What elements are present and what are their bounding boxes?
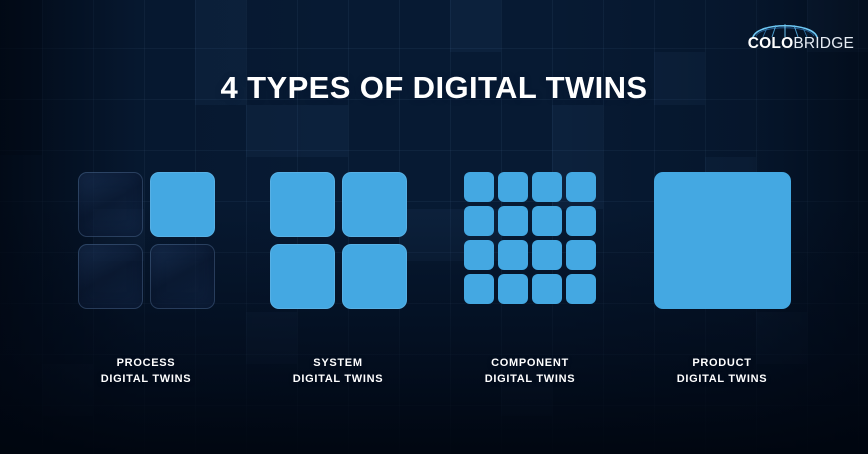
grid-cell-filled	[498, 240, 528, 270]
colobridge-logo: COLOBRIDGE	[744, 18, 854, 58]
label-product: PRODUCT DIGITAL TWINS	[612, 355, 832, 387]
grid-cell-filled	[464, 172, 494, 202]
grid-cell-filled	[270, 244, 335, 309]
grid-16-icon	[464, 172, 596, 304]
grid-cell-filled	[270, 172, 335, 237]
label-line-2: DIGITAL TWINS	[612, 371, 832, 387]
grid-cell-filled	[532, 172, 562, 202]
label-line-1: COMPONENT	[420, 355, 640, 371]
grid-cell-filled	[532, 274, 562, 304]
grid-cell-filled	[464, 206, 494, 236]
grid-cell-filled	[498, 274, 528, 304]
grid-cell	[150, 244, 215, 309]
group-component	[454, 172, 606, 318]
label-line-1: PRODUCT	[612, 355, 832, 371]
logo-wordmark: COLOBRIDGE	[744, 35, 854, 53]
grid-cell	[78, 172, 143, 237]
grid-cell-filled	[498, 206, 528, 236]
grid-cell-filled	[464, 274, 494, 304]
group-system	[262, 172, 414, 318]
label-line-1: SYSTEM	[228, 355, 448, 371]
grid-cell-filled	[498, 172, 528, 202]
grid-cell-filled	[566, 206, 596, 236]
grid-cell-filled	[566, 172, 596, 202]
quad-grid-all-filled-icon	[270, 172, 407, 309]
label-line-2: DIGITAL TWINS	[36, 371, 256, 387]
grid-cell	[78, 244, 143, 309]
slide-canvas: COLOBRIDGE 4 TYPES OF DIGITAL TWINS	[0, 0, 868, 454]
grid-cell-filled	[566, 240, 596, 270]
grid-cell-filled	[532, 240, 562, 270]
label-line-2: DIGITAL TWINS	[420, 371, 640, 387]
logo-bridge-text: BRIDGE	[793, 35, 854, 52]
grid-cell-filled	[532, 206, 562, 236]
label-process: PROCESS DIGITAL TWINS	[36, 355, 256, 387]
icon-row	[0, 172, 868, 322]
group-product	[646, 172, 798, 318]
quad-grid-one-filled-icon	[78, 172, 215, 309]
label-line-1: PROCESS	[36, 355, 256, 371]
grid-cell-filled	[566, 274, 596, 304]
grid-cell-filled	[464, 240, 494, 270]
group-process	[70, 172, 222, 318]
label-line-2: DIGITAL TWINS	[228, 371, 448, 387]
page-title: 4 TYPES OF DIGITAL TWINS	[0, 70, 868, 106]
grid-cell-filled	[342, 244, 407, 309]
grid-cell-filled	[150, 172, 215, 237]
label-component: COMPONENT DIGITAL TWINS	[420, 355, 640, 387]
logo-colo-text: COLO	[748, 35, 794, 52]
single-square-icon	[654, 172, 791, 309]
label-system: SYSTEM DIGITAL TWINS	[228, 355, 448, 387]
label-row: PROCESS DIGITAL TWINS SYSTEM DIGITAL TWI…	[0, 355, 868, 399]
grid-cell-filled	[342, 172, 407, 237]
